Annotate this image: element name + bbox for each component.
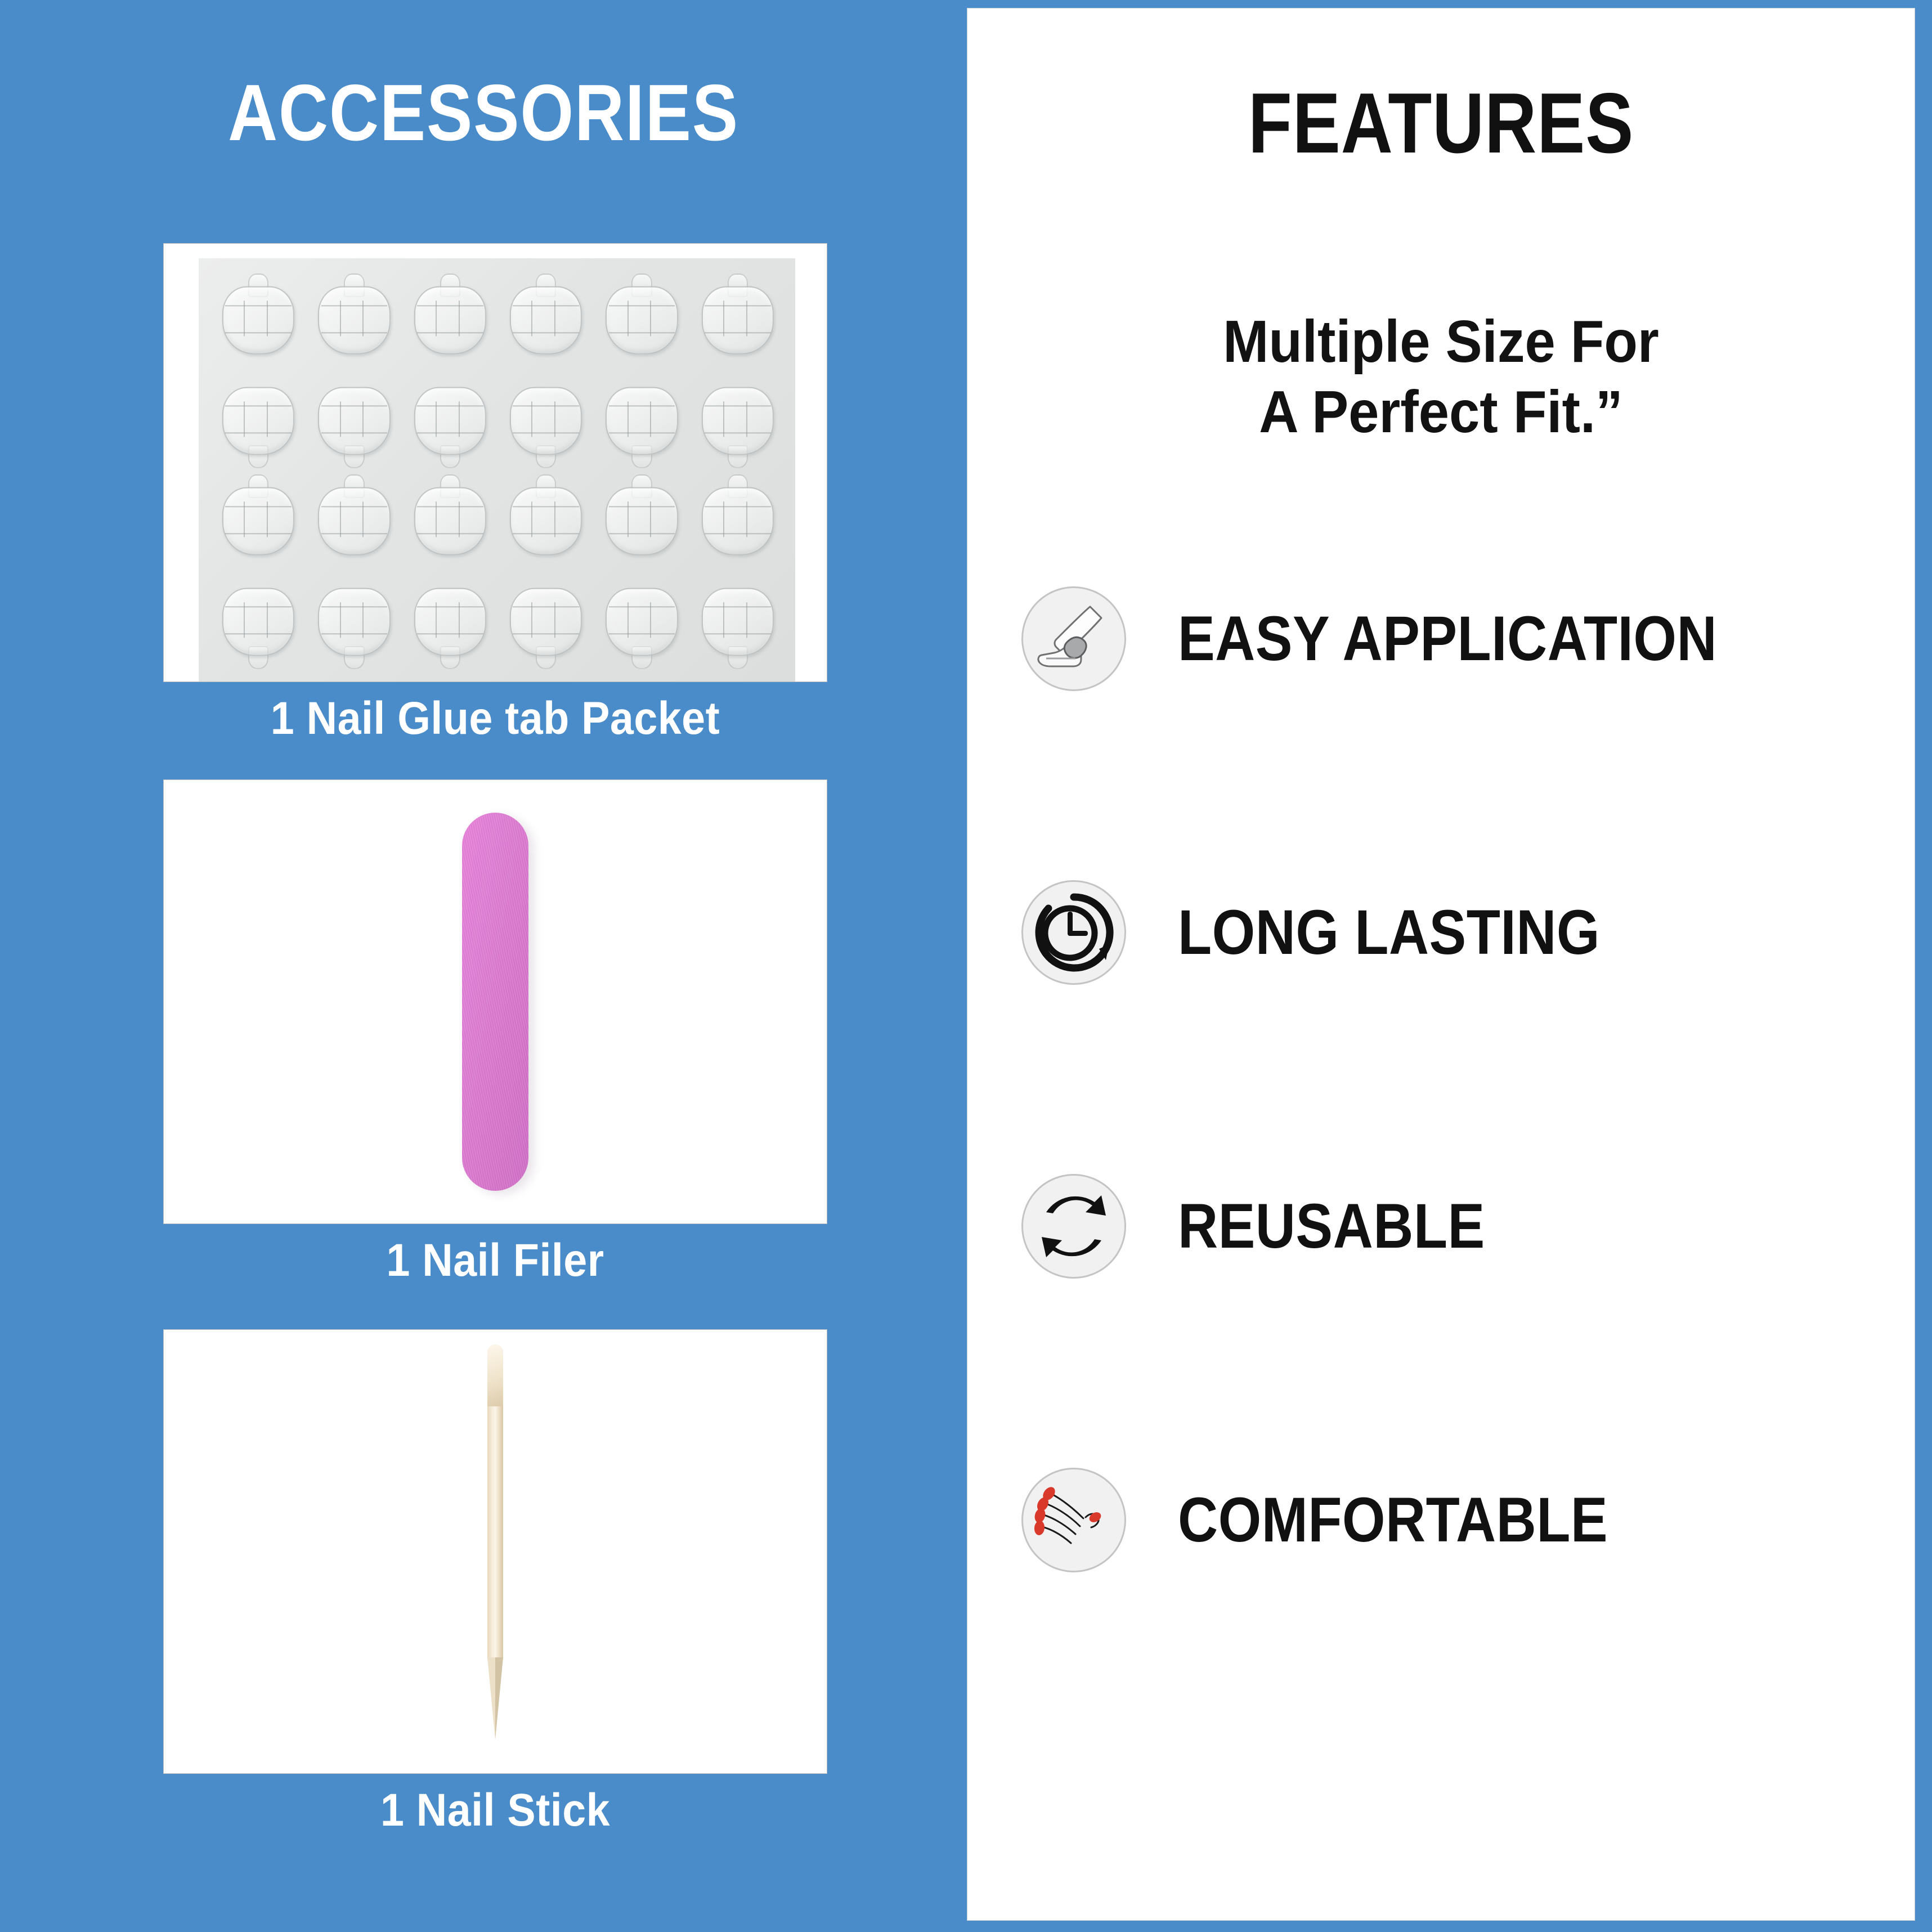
accessory-caption: 1 Nail Stick	[190, 1786, 801, 1835]
manicured-hand-icon	[1021, 1468, 1126, 1572]
glue-tab	[308, 473, 400, 570]
accessory-item-glue-tabs: 1 Nail Glue tab Packet	[163, 243, 827, 743]
feature-row-long-lasting: LONG LASTING	[967, 865, 1915, 1000]
clock-icon	[1021, 880, 1126, 985]
glue-tab-sheet	[199, 258, 795, 682]
features-title: FEATURES	[1043, 80, 1839, 166]
accessory-item-nail-file: 1 Nail Filer	[163, 779, 827, 1285]
glue-tab	[692, 272, 784, 369]
glue-tab	[212, 573, 304, 671]
nail-stick-shape	[484, 1344, 506, 1738]
glue-tab	[308, 373, 400, 470]
feature-row-easy-application: EASY APPLICATION	[967, 571, 1915, 706]
accessory-item-nail-stick: 1 Nail Stick	[163, 1329, 827, 1835]
accessories-title: ACCESSORIES	[68, 73, 899, 153]
feature-row-reusable: REUSABLE	[967, 1159, 1915, 1294]
glue-tab-grid	[212, 272, 784, 670]
recycle-arrows-icon	[1021, 1174, 1126, 1279]
glue-tab	[500, 373, 592, 470]
features-list: EASY APPLICATION LONG LASTING	[967, 571, 1915, 1588]
glue-tab	[212, 473, 304, 570]
accessory-caption: 1 Nail Glue tab Packet	[190, 694, 801, 743]
features-panel: FEATURES Multiple Size For A Perfect Fit…	[967, 8, 1915, 1921]
feature-label: REUSABLE	[1178, 1195, 1485, 1258]
feature-label: COMFORTABLE	[1178, 1489, 1608, 1552]
glue-tab	[500, 573, 592, 671]
nail-stick-photo	[163, 1329, 827, 1774]
accessory-caption: 1 Nail Filer	[190, 1236, 801, 1285]
accessories-panel: ACCESSORIES	[0, 0, 967, 1932]
nail-glue-tab-sheet-photo	[163, 243, 827, 682]
features-subtitle: Multiple Size For A Perfect Fit.”	[1005, 307, 1876, 447]
feature-label: EASY APPLICATION	[1178, 607, 1717, 670]
glue-tab	[404, 373, 496, 470]
glue-tab	[500, 272, 592, 369]
glue-tab	[595, 272, 688, 369]
glue-tab	[404, 573, 496, 671]
feature-row-comfortable: COMFORTABLE	[967, 1453, 1915, 1588]
infographic-root: ACCESSORIES	[0, 0, 1932, 1932]
finger-pressing-nail-icon	[1021, 586, 1126, 691]
features-panel-outer: FEATURES Multiple Size For A Perfect Fit…	[967, 0, 1932, 1932]
glue-tab	[595, 573, 688, 671]
features-subtitle-line2: A Perfect Fit.”	[1005, 377, 1876, 447]
glue-tab	[404, 272, 496, 369]
nail-file-photo	[163, 779, 827, 1224]
glue-tab	[595, 473, 688, 570]
nail-file-shape	[462, 813, 528, 1191]
feature-label: LONG LASTING	[1178, 901, 1600, 964]
glue-tab	[212, 272, 304, 369]
glue-tab	[692, 473, 784, 570]
glue-tab	[692, 573, 784, 671]
glue-tab	[308, 573, 400, 671]
features-subtitle-line1: Multiple Size For	[1005, 307, 1876, 377]
glue-tab	[595, 373, 688, 470]
glue-tab	[212, 373, 304, 470]
glue-tab	[308, 272, 400, 369]
glue-tab	[692, 373, 784, 470]
glue-tab	[404, 473, 496, 570]
glue-tab	[500, 473, 592, 570]
